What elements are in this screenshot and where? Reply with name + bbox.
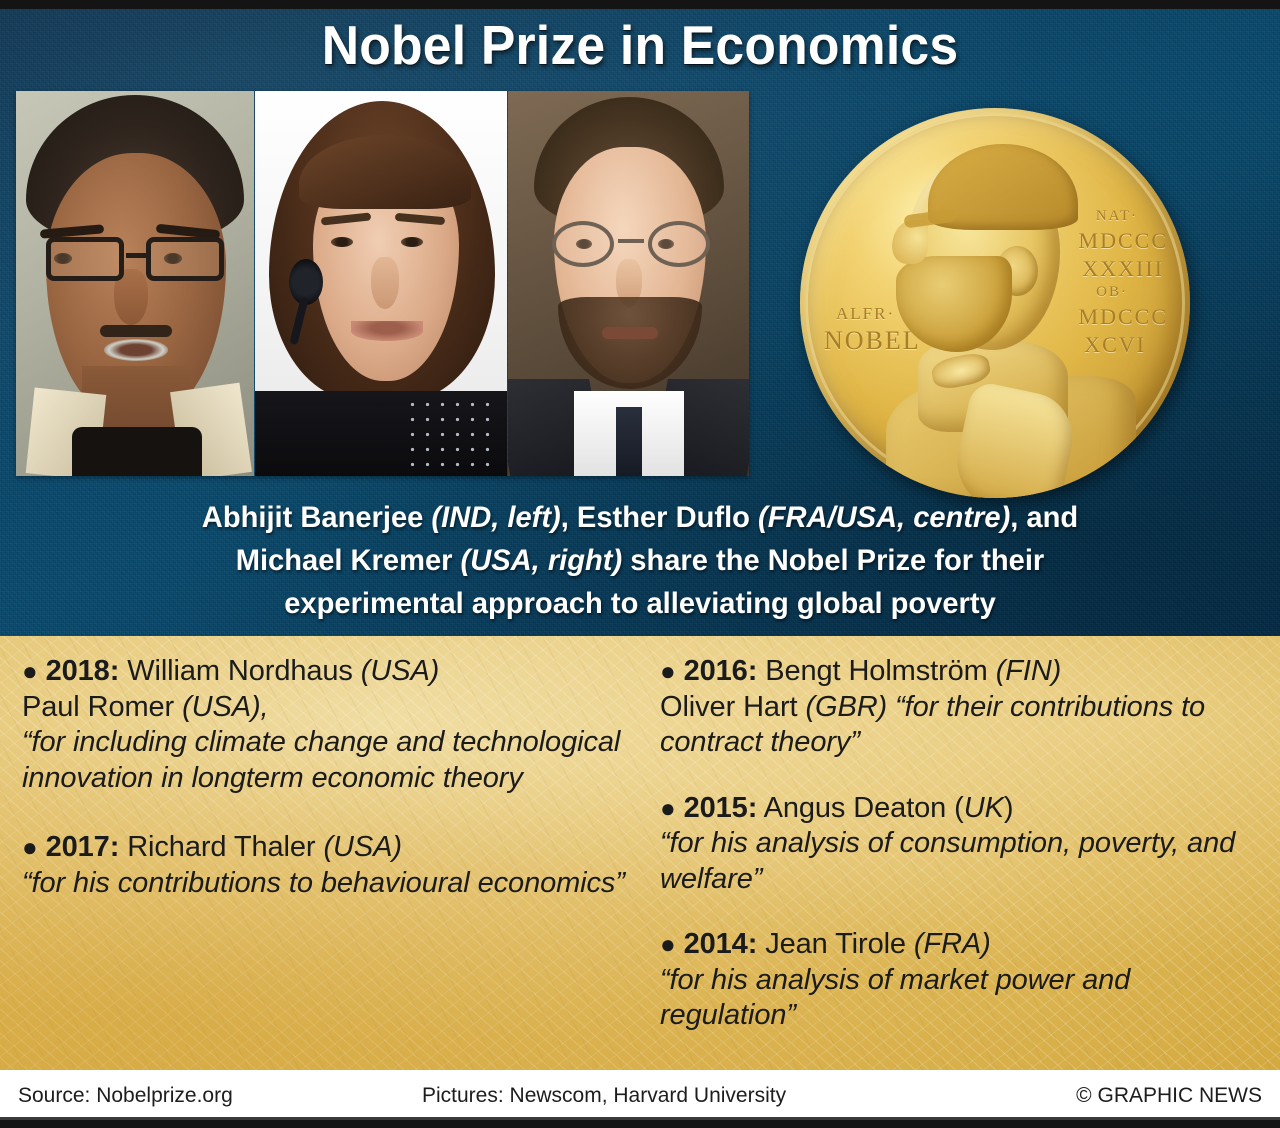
laureate-citation: “for including climate change and techno…: [22, 725, 632, 796]
bullet-icon: ●: [22, 832, 38, 862]
bullet-icon: ●: [22, 656, 38, 686]
medal-text-ob: OB·: [1096, 284, 1128, 301]
laureate-citation: “for his contributions to behavioural ec…: [22, 866, 632, 902]
caption-country-kremer: (USA, right): [461, 544, 623, 577]
laureates-column-left: ● 2018: William Nordhaus (USA) Paul Rome…: [22, 654, 632, 922]
laureate-names-2: Oliver Hart: [660, 691, 805, 723]
page-title: Nobel Prize in Economics: [38, 14, 1241, 76]
medal-text-died-year-1: MDCCC: [1079, 304, 1168, 330]
laureate-country: (USA): [323, 831, 401, 863]
eyeglasses-icon: [40, 237, 230, 283]
bottom-border-band: [0, 1120, 1280, 1128]
caption-line-2: Michael Kremer (USA, right) share the No…: [77, 539, 1202, 582]
bullet-icon: ●: [660, 793, 676, 823]
laureate-entry-2017: ● 2017: Richard Thaler (USA) “for his co…: [22, 830, 632, 901]
medal-text-born-year-2: XXXIII: [1082, 256, 1164, 282]
laureate-country-2: (USA),: [182, 691, 268, 723]
round-eyeglasses-icon: [548, 221, 714, 269]
previous-laureates-list: ● 2018: William Nordhaus (USA) Paul Rome…: [0, 636, 1280, 1070]
nobel-medal-image: ALFR· NOBEL NAT· MDCCC XXXIII OB· MDCCC …: [800, 108, 1190, 498]
caption-line-3: experimental approach to alleviating glo…: [77, 582, 1202, 625]
caption-name-duflo: Esther Duflo: [577, 501, 750, 534]
caption-sep-1: ,: [561, 501, 577, 534]
caption-sep-2: , and: [1010, 501, 1078, 534]
medal-text-nat: NAT·: [1096, 208, 1138, 225]
laureate-country: (FIN): [996, 655, 1062, 687]
photo-abhijit-banerjee: [16, 91, 254, 476]
laureate-entry-2015: ● 2015: Angus Deaton (UK) “for his analy…: [660, 791, 1260, 898]
photo-michael-kremer: [508, 91, 749, 476]
laureates-column-right: ● 2016: Bengt Holmström (FIN) Oliver Har…: [660, 654, 1260, 1055]
laureate-citation: “for his analysis of market power and re…: [660, 963, 1260, 1034]
caption-name-kremer: Michael Kremer: [236, 544, 453, 577]
laureate-names: Richard Thaler: [119, 831, 323, 863]
laureate-country: (USA): [361, 655, 439, 687]
laureate-citation: “for his analysis of consumption, povert…: [660, 826, 1260, 897]
photo-esther-duflo: [255, 91, 508, 476]
laureate-names: Angus Deaton (: [757, 792, 963, 824]
caption-country-banerjee: (IND, left): [431, 501, 560, 534]
laureate-year: 2014:: [684, 928, 758, 960]
footer-pictures: Pictures: Newscom, Harvard University: [422, 1084, 786, 1108]
laureate-country-2: (GBR): [805, 691, 887, 723]
laureate-country: UK: [964, 792, 1004, 824]
laureate-entry-2018: ● 2018: William Nordhaus (USA) Paul Rome…: [22, 654, 632, 796]
laureate-names-2: Paul Romer: [22, 691, 182, 723]
footer-source: Source: Nobelprize.org: [18, 1084, 233, 1108]
caption-line-1: Abhijit Banerjee (IND, left), Esther Duf…: [77, 496, 1202, 539]
laureate-year: 2017:: [46, 831, 120, 863]
medal-text-alfr: ALFR·: [836, 304, 895, 324]
caption-country-duflo: (FRA/USA, centre): [758, 501, 1010, 534]
laureate-entry-2014: ● 2014: Jean Tirole (FRA) “for his analy…: [660, 927, 1260, 1034]
bullet-icon: ●: [660, 929, 676, 959]
laureate-names: William Nordhaus: [119, 655, 361, 687]
laureate-names: Jean Tirole: [757, 928, 914, 960]
laureate-year: 2016:: [684, 655, 758, 687]
laureate-names-tail: ): [1004, 792, 1014, 824]
medal-text-born-year-1: MDCCC: [1079, 228, 1168, 254]
laureate-names: Bengt Holmström: [757, 655, 995, 687]
laureate-entry-2016: ● 2016: Bengt Holmström (FIN) Oliver Har…: [660, 654, 1260, 761]
laureates-caption: Abhijit Banerjee (IND, left), Esther Duf…: [77, 496, 1202, 625]
laureate-country: (FRA): [914, 928, 991, 960]
medal-text-nobel: NOBEL: [824, 326, 921, 356]
bullet-icon: ●: [660, 656, 676, 686]
medal-text-died-year-2: XCVI: [1084, 332, 1146, 358]
top-border-band: [0, 0, 1280, 9]
caption-name-banerjee: Abhijit Banerjee: [202, 501, 424, 534]
laureate-year: 2018:: [46, 655, 120, 687]
footer-credit: © GRAPHIC NEWS: [1076, 1084, 1262, 1108]
laureate-photo-strip: [16, 91, 749, 476]
infographic-root: Nobel Prize in Economics: [0, 0, 1280, 1128]
caption-line2-tail: share the Nobel Prize for their: [630, 544, 1044, 577]
laureate-year: 2015:: [684, 792, 758, 824]
